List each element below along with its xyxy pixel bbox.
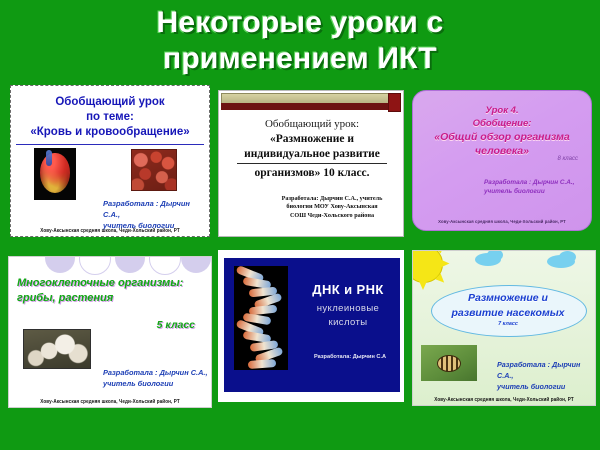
slide3-footer: Хову-Аксынская средняя школа, Чеди-Хольс… xyxy=(412,219,592,225)
slide2-heading-line-2: «Размножение и xyxy=(219,132,404,147)
slide2-author-line-2: биологии МОУ Хову-Аксынская xyxy=(265,203,399,211)
slide1-footer: Хову-Аксынская средняя школа, Чеди-Хольс… xyxy=(11,228,209,234)
title-line-1: Некоторые уроки с xyxy=(157,5,444,41)
slide4-author: Разработала : Дырчин С.А., учитель биоло… xyxy=(103,367,209,389)
slide-thumb-insect-reproduction[interactable]: Размножение и развитие насекомых 7 класс… xyxy=(412,250,596,406)
slide2-accent-bar xyxy=(221,103,389,110)
slide5-author: Разработала: Дырчин С.А xyxy=(296,354,404,360)
slide-thumbnail-grid: Обобщающий урок по теме: «Кровь и кровоо… xyxy=(0,84,600,430)
slide-thumb-blood-circulation[interactable]: Обобщающий урок по теме: «Кровь и кровоо… xyxy=(10,85,210,237)
slide4-footer: Хову-Аксынская средняя школа, Чеди-Хольс… xyxy=(9,399,211,405)
slide-thumb-reproduction-development[interactable]: Обобщающий урок: «Размножение и индивиду… xyxy=(218,90,404,237)
slide3-author-line-2: учитель биологии xyxy=(484,187,584,196)
slide6-footer: Хову-Аксынская средняя школа, Чеди-Хольс… xyxy=(413,397,595,403)
slide2-heading: Обобщающий урок: «Размножение и индивиду… xyxy=(219,117,404,181)
slide1-heading: Обобщающий урок по теме: «Кровь и кровоо… xyxy=(16,93,204,145)
slide3-heading-line-1: Урок 4. xyxy=(412,104,592,117)
decor-circle-3 xyxy=(115,256,145,273)
slide5-panel: ДНК и РНК нуклеиновые кислоты Разработал… xyxy=(224,258,400,392)
slide5-subtitle-line-2: кислоты xyxy=(294,316,402,330)
slide4-author-line-1: Разработала : Дырчин С.А., xyxy=(103,367,209,378)
slide2-author-line-3: СОШ Чеди-Хольского района xyxy=(265,212,399,220)
slide2-author-line-1: Разработала: Дырчин С.А., учитель xyxy=(265,195,399,203)
slide-thumb-dna-rna[interactable]: ДНК и РНК нуклеиновые кислоты Разработал… xyxy=(218,250,404,402)
slide1-images xyxy=(11,148,210,200)
presentation-slide: Некоторые уроки с применением ИКТ Обобща… xyxy=(0,0,600,450)
dna-helix-photo xyxy=(234,266,288,370)
heart-photo xyxy=(34,148,76,200)
slide4-heading: Многоклеточные организмы: грибы, растени… xyxy=(17,276,209,306)
decor-circle-4 xyxy=(149,256,181,275)
slide-thumb-human-organism-overview[interactable]: Урок 4. Обобщение: «Общий обзор организм… xyxy=(412,90,592,231)
decor-circle-1 xyxy=(45,256,75,273)
slide3-heading-line-3: «Общий обзор организма xyxy=(412,130,592,144)
slide2-corner-square xyxy=(388,93,401,112)
slide6-author-line-2: учитель биологии xyxy=(497,381,593,392)
slide2-author: Разработала: Дырчин С.А., учитель биолог… xyxy=(265,195,399,220)
slide3-heading: Урок 4. Обобщение: «Общий обзор организм… xyxy=(412,104,592,158)
slide6-class-label: 7 класс xyxy=(431,321,585,327)
slide4-heading-line-2: грибы, растения xyxy=(17,291,209,306)
slide6-heading-line-1: Размножение и xyxy=(431,291,585,306)
slide4-class-label: 5 класс xyxy=(157,319,195,331)
blood-cells-photo xyxy=(131,149,177,191)
slide3-author: Разработала : Дырчин С.А., учитель биоло… xyxy=(484,178,584,197)
slide1-heading-line-1: Обобщающий урок xyxy=(18,95,202,110)
title-line-2: применением ИКТ xyxy=(163,41,437,77)
slide1-heading-line-2: по теме: xyxy=(18,110,202,125)
slide-thumb-multicellular-organisms[interactable]: Многоклеточные организмы: грибы, растени… xyxy=(8,256,212,408)
slide6-author: Разработала : Дырчин С.А., учитель биоло… xyxy=(497,359,593,392)
slide2-heading-line-4: организмов» 10 класс. xyxy=(219,166,404,181)
slide2-heading-line-1: Обобщающий урок: xyxy=(219,117,404,132)
decor-circle-2 xyxy=(79,256,111,275)
slide5-subtitle: нуклеиновые кислоты xyxy=(294,302,402,330)
slide1-author-line-1: Разработала : Дырчин С.А., xyxy=(103,198,207,220)
slide4-heading-line-1: Многоклеточные организмы: xyxy=(17,276,209,291)
slide6-heading: Размножение и развитие насекомых xyxy=(431,291,585,321)
slide1-heading-line-3: «Кровь и кровообращение» xyxy=(18,125,202,140)
mushrooms-photo xyxy=(23,329,91,369)
slide3-class-label: 8 класс xyxy=(557,156,578,162)
slide2-heading-line-3: индивидуальное развитие xyxy=(219,147,404,162)
slide3-author-line-1: Разработала : Дырчин С.А., xyxy=(484,178,584,187)
slide4-author-line-2: учитель биологии xyxy=(103,378,209,389)
colorado-beetle-photo xyxy=(421,345,477,381)
slide2-divider xyxy=(237,163,387,164)
slide1-author: Разработала : Дырчин С.А., учитель биоло… xyxy=(103,198,207,231)
page-title: Некоторые уроки с применением ИКТ xyxy=(0,2,600,80)
decor-circle-5 xyxy=(181,256,211,273)
slide5-subtitle-line-1: нуклеиновые xyxy=(294,302,402,316)
slide6-author-line-1: Разработала : Дырчин С.А., xyxy=(497,359,593,381)
slide6-heading-line-2: развитие насекомых xyxy=(431,306,585,321)
slide3-heading-line-2: Обобщение: xyxy=(412,117,592,130)
slide5-heading: ДНК и РНК xyxy=(294,282,402,297)
